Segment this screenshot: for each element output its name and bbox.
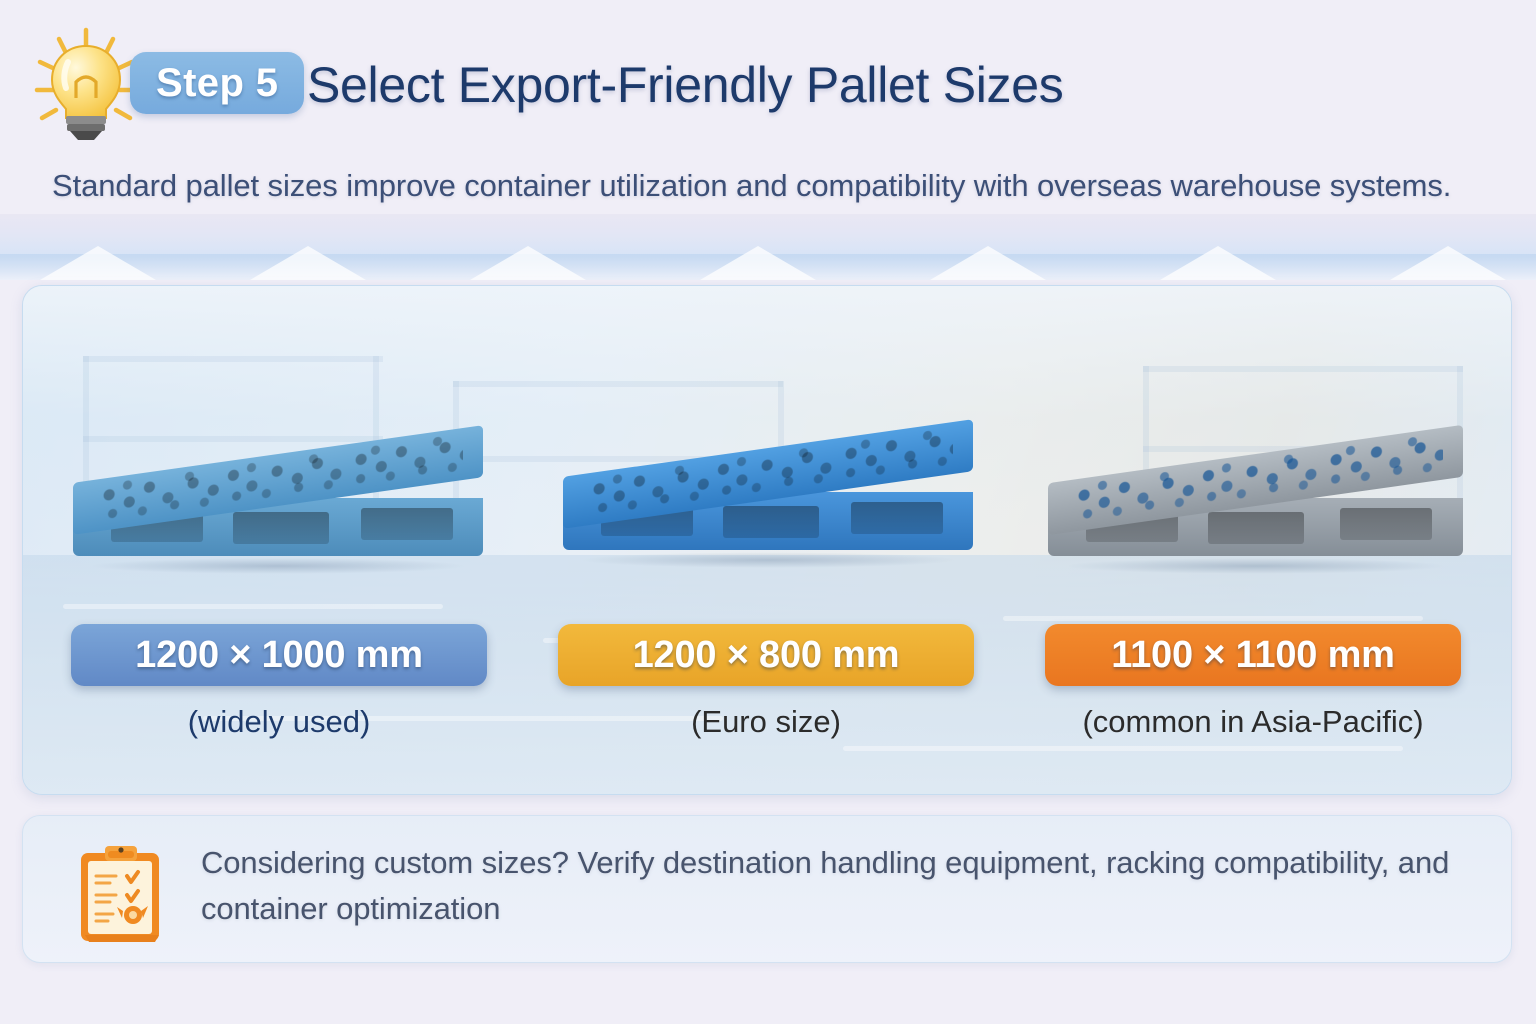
horizon-peak [930, 246, 1046, 280]
pallet-fork-slot [1340, 508, 1432, 540]
pallet-shadow [89, 558, 466, 574]
step-badge: Step 5 [130, 52, 304, 114]
horizon-peak [470, 246, 586, 280]
pallet-shadow [579, 552, 956, 568]
pallet-shadow [1065, 558, 1447, 574]
plastic-pallet-icon [563, 448, 973, 560]
horizon-peak [40, 246, 156, 280]
horizon-peak [250, 246, 366, 280]
pallet-size-label-1: 1200 × 1000 mm [135, 634, 423, 677]
pallet-image-panel: 1200 × 1000 mm (widely used) 1200 × 800 … [22, 285, 1512, 795]
note-text: Considering custom sizes? Verify destina… [201, 840, 1471, 932]
pallet-size-caption-3: (common in Asia-Pacific) [1045, 704, 1461, 740]
plastic-pallet-icon [73, 454, 483, 566]
horizon-peak [1160, 246, 1276, 280]
pallet-size-badge-1: 1200 × 1000 mm [71, 624, 487, 686]
pallet-fork-slot [1208, 512, 1304, 544]
pallet-fork-slot [361, 508, 453, 540]
clipboard-checklist-icon [75, 843, 167, 943]
step-badge-label: Step 5 [156, 61, 278, 106]
horizon-peak [1390, 246, 1506, 280]
pallet-fork-slot [233, 512, 329, 544]
note-card: Considering custom sizes? Verify destina… [22, 815, 1512, 963]
pallet-size-badge-3: 1100 × 1100 mm [1045, 624, 1461, 686]
pallet-fork-slot [723, 506, 819, 538]
pallet-size-label-2: 1200 × 800 mm [633, 634, 900, 677]
page-subtitle: Standard pallet sizes improve container … [52, 168, 1451, 204]
plastic-pallet-icon [1048, 454, 1463, 566]
pallet-size-label-3: 1100 × 1100 mm [1111, 634, 1395, 677]
page-title: Select Export-Friendly Pallet Sizes [307, 56, 1063, 114]
horizon-peak [700, 246, 816, 280]
pallet-size-badge-2: 1200 × 800 mm [558, 624, 974, 686]
pallet-size-caption-2: (Euro size) [558, 704, 974, 740]
decorative-horizon-band [0, 214, 1536, 280]
pallet-size-caption-1: (widely used) [71, 704, 487, 740]
pallet-fork-slot [851, 502, 943, 534]
page-header: Step 5 Select Export-Friendly Pallet Siz… [0, 0, 1536, 214]
